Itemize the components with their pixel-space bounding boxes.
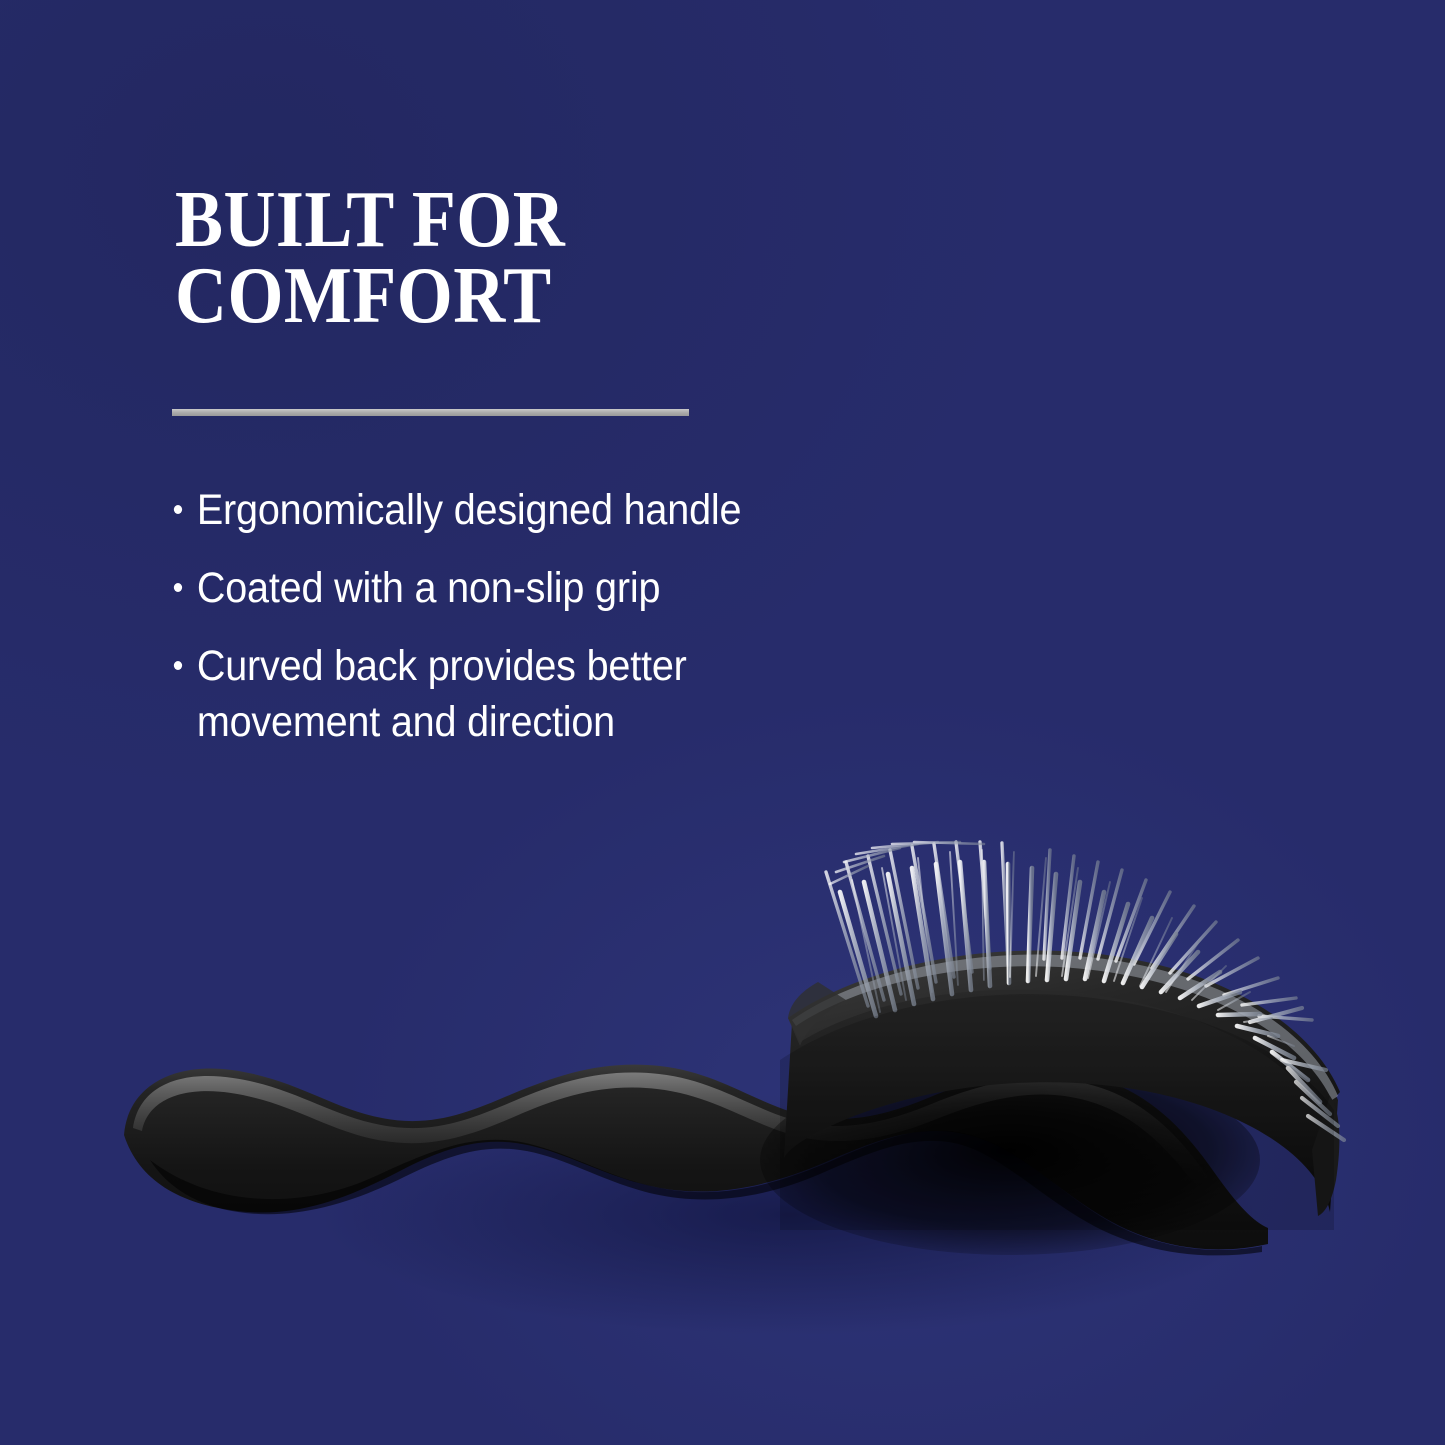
brush-handle [124, 1065, 1268, 1256]
product-feature-card: BUILT FOR COMFORT Ergonomically designed… [0, 0, 1445, 1445]
bullet-dot-icon [174, 661, 182, 670]
head-under-shadow [760, 1065, 1260, 1255]
title-divider [172, 409, 689, 416]
bullet-dot-icon [174, 583, 182, 592]
bullet-dot-icon [174, 505, 182, 514]
brush-bristles [826, 842, 1344, 1140]
feature-list: Ergonomically designed handle Coated wit… [172, 482, 832, 750]
product-cast-shadow [320, 1095, 1260, 1335]
brush-head [784, 951, 1340, 1216]
list-item-label: Coated with a non-slip grip [197, 564, 660, 612]
list-item-label: Curved back provides better movement and… [197, 642, 687, 746]
list-item-label: Ergonomically designed handle [197, 486, 741, 534]
list-item: Ergonomically designed handle [172, 482, 779, 538]
list-item: Curved back provides better movement and… [172, 638, 779, 750]
page-title: BUILT FOR COMFORT [175, 182, 913, 334]
bristle-base-blend [780, 994, 1334, 1230]
list-item: Coated with a non-slip grip [172, 560, 779, 616]
